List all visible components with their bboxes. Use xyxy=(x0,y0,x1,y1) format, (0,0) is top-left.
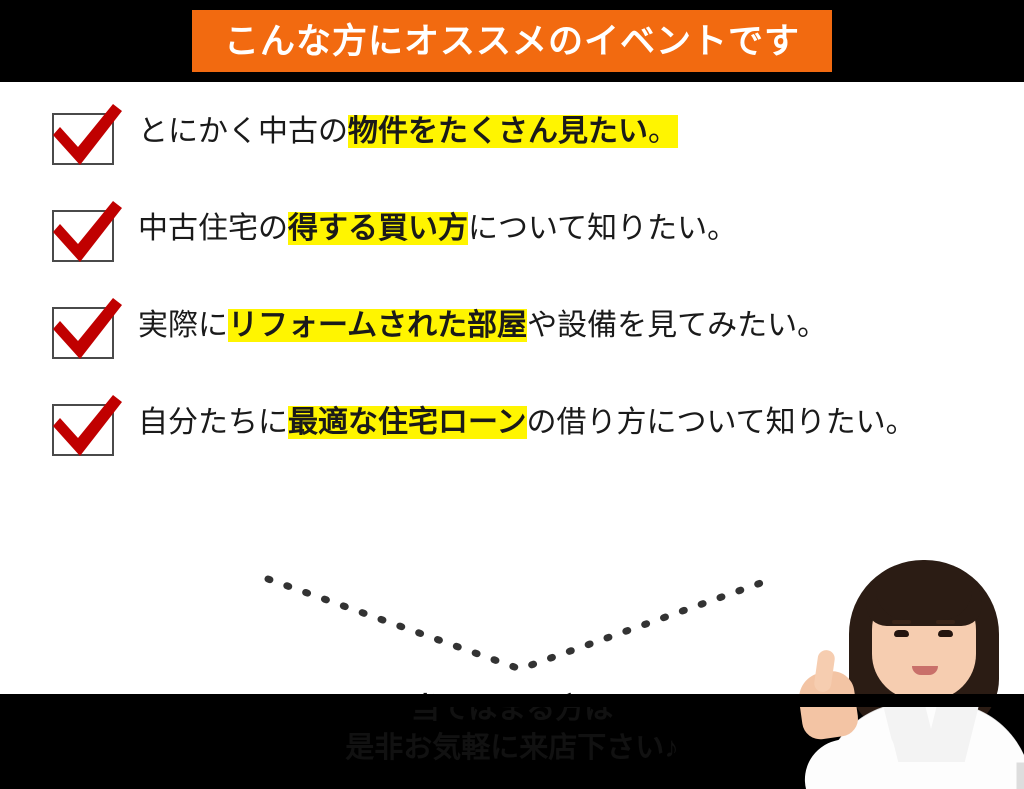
eye-left xyxy=(894,630,909,637)
list-item-text-4: 自分たちに最適な住宅ローンの借り方について知りたい。 xyxy=(138,403,916,444)
check-icon xyxy=(47,295,125,369)
header-band: こんな方にオススメのイベントです xyxy=(0,0,1024,82)
checkbox-1[interactable] xyxy=(52,113,114,165)
footer-band xyxy=(0,694,1024,707)
list-item: 中古住宅の得する買い方について知りたい。 xyxy=(0,197,1024,294)
text-highlight-3: リフォームされた部屋 xyxy=(228,309,527,342)
check-icon xyxy=(47,198,125,272)
check-icon xyxy=(47,101,125,175)
list-item: とにかく中古の物件をたくさん見たい。 xyxy=(0,100,1024,197)
text-post-2: について知りたい。 xyxy=(468,212,737,245)
content-area: とにかく中古の物件をたくさん見たい。 中古住宅の得する買い方について知りたい。 xyxy=(0,82,1024,694)
list-item: 実際にリフォームされた部屋や設備を見てみたい。 xyxy=(0,294,1024,391)
list-item-text-2: 中古住宅の得する買い方について知りたい。 xyxy=(138,209,737,250)
checkbox-3[interactable] xyxy=(52,307,114,359)
eye-right xyxy=(938,630,953,637)
text-highlight-4: 最適な住宅ローン xyxy=(288,406,527,439)
dotted-chevron-down-icon xyxy=(250,569,790,679)
check-icon xyxy=(47,392,125,466)
checkbox-4[interactable] xyxy=(52,404,114,456)
eyebrow-right xyxy=(936,620,955,624)
text-pre-4: 自分たちに xyxy=(138,406,288,439)
header-title-box: こんな方にオススメのイベントです xyxy=(192,10,832,72)
text-pre-1: とにかく中古の xyxy=(138,115,348,148)
hair-fringe xyxy=(876,590,972,620)
list-item-text-3: 実際にリフォームされた部屋や設備を見てみたい。 xyxy=(138,306,827,347)
pointing-woman-photo xyxy=(794,552,1024,789)
eyebrow-left xyxy=(892,620,911,624)
text-highlight-2: 得する買い方 xyxy=(288,212,468,245)
page-title: こんな方にオススメのイベントです xyxy=(224,24,800,59)
checkbox-2[interactable] xyxy=(52,210,114,262)
text-post-3: や設備を見てみたい。 xyxy=(527,309,827,342)
list-item-text-1: とにかく中古の物件をたくさん見たい。 xyxy=(138,112,678,153)
checklist: とにかく中古の物件をたくさん見たい。 中古住宅の得する買い方について知りたい。 xyxy=(0,100,1024,488)
text-pre-2: 中古住宅の xyxy=(138,212,288,245)
text-post-1: 。 xyxy=(648,115,678,148)
text-post-4: の借り方について知りたい。 xyxy=(527,406,916,439)
text-pre-3: 実際に xyxy=(138,309,228,342)
text-highlight-1: 物件をたくさん見たい xyxy=(348,115,648,148)
list-item: 自分たちに最適な住宅ローンの借り方について知りたい。 xyxy=(0,391,1024,488)
flyer-page: こんな方にオススメのイベントです とにかく中古の物件をたくさん見たい。 xyxy=(0,0,1024,707)
arrow-container xyxy=(250,569,790,679)
